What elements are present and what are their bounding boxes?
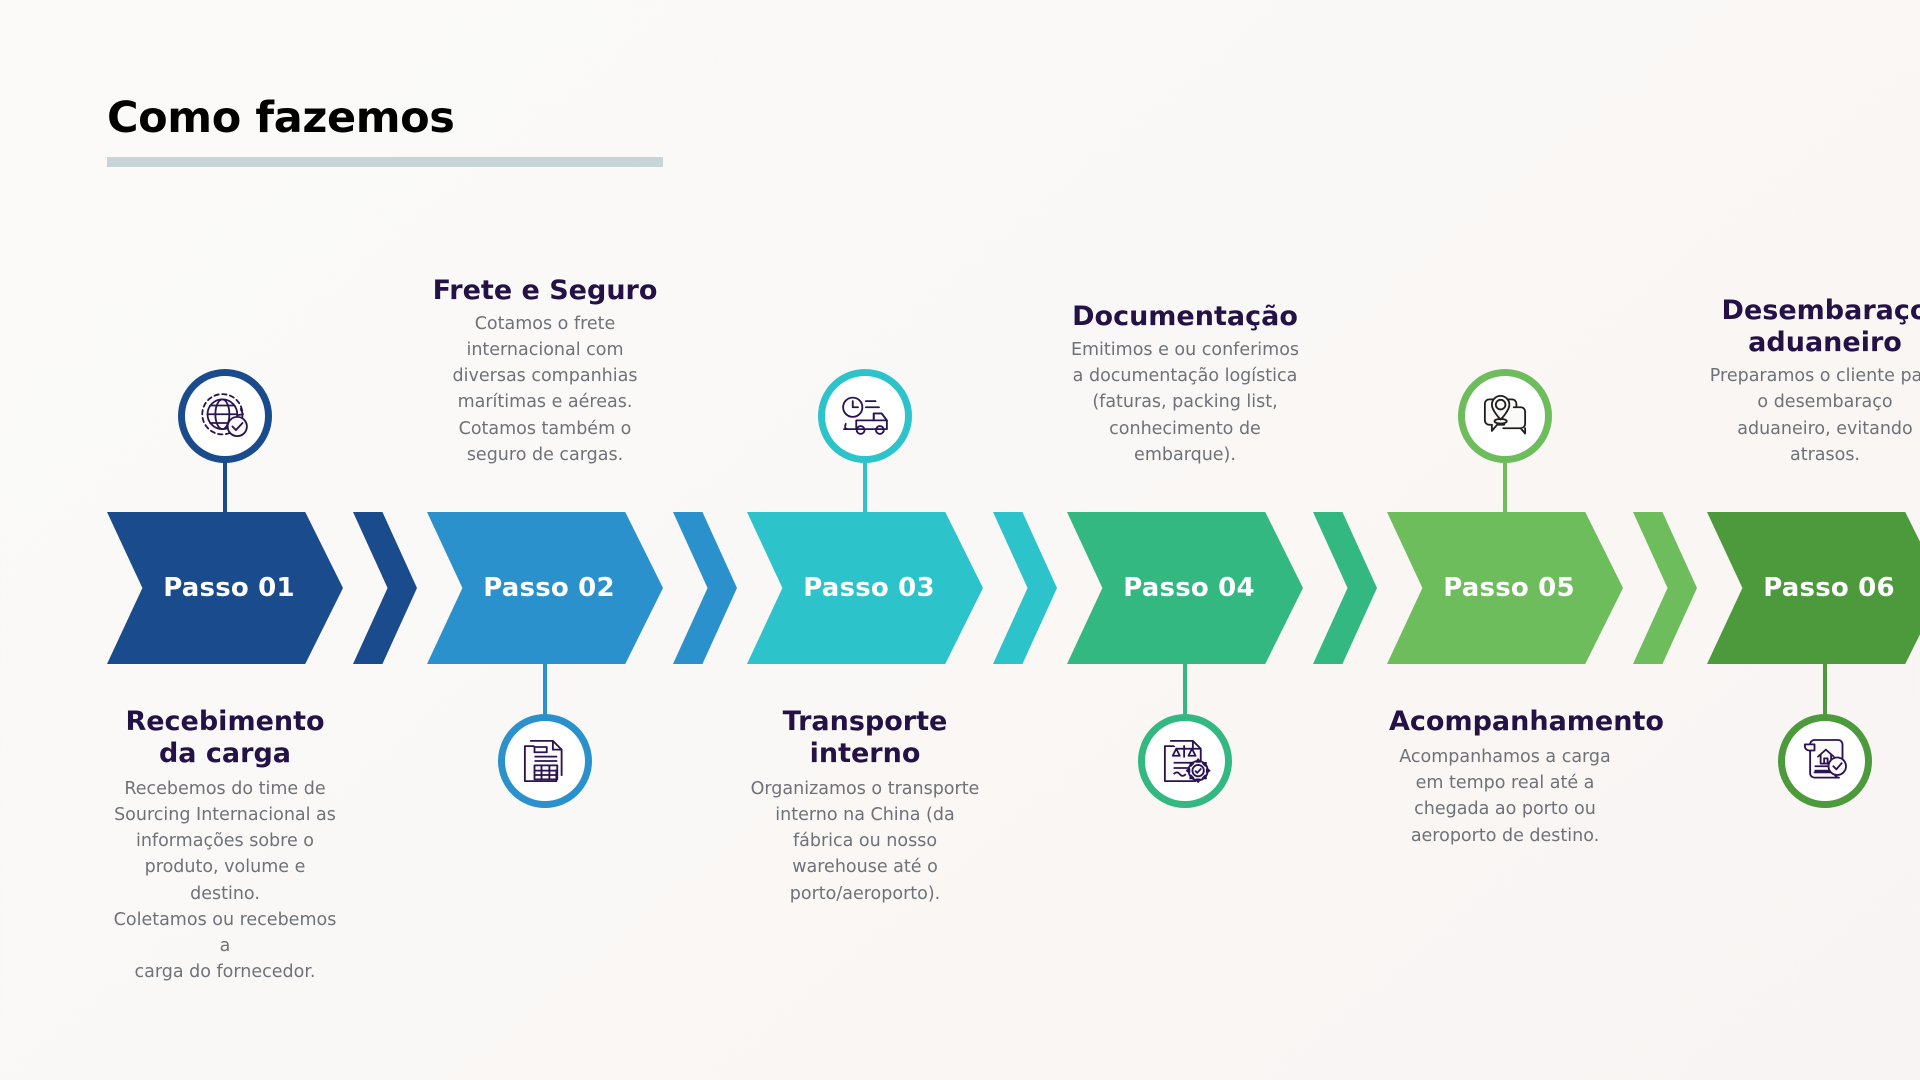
icon-badge-step-4[interactable] bbox=[1138, 714, 1232, 808]
chevron-step-6[interactable]: Passo 06 bbox=[1707, 512, 1920, 664]
step-title-2: Frete e Seguro bbox=[429, 275, 661, 307]
location-chat-icon bbox=[1477, 388, 1533, 444]
icon-badge-step-3[interactable] bbox=[818, 369, 912, 463]
step-label-4: Passo 04 bbox=[1123, 573, 1255, 603]
chevron-arrow-4 bbox=[1313, 512, 1377, 664]
step-title-3: Transporte interno bbox=[749, 706, 981, 770]
icon-badge-step-5[interactable] bbox=[1458, 369, 1552, 463]
step-description-1: Recebemos do time de Sourcing Internacio… bbox=[109, 776, 341, 986]
legal-documents-gear-icon bbox=[1157, 733, 1213, 789]
step-label-2: Passo 02 bbox=[483, 573, 615, 603]
step-title-5: Acompanhamento bbox=[1389, 706, 1621, 738]
icon-badge-step-1[interactable] bbox=[178, 369, 272, 463]
certificate-house-check-icon bbox=[1797, 733, 1853, 789]
chevron-band: Passo 01Passo 02Passo 03Passo 04Passo 05… bbox=[0, 512, 1920, 664]
step-description-6: Preparamos o cliente para o desembaraço … bbox=[1709, 363, 1920, 468]
process-flow-diagram: Passo 01Passo 02Passo 03Passo 04Passo 05… bbox=[0, 0, 1920, 1080]
step-description-3: Organizamos o transporte interno na Chin… bbox=[749, 776, 981, 907]
chevron-step-2[interactable]: Passo 02 bbox=[427, 512, 663, 664]
chevron-arrow-5 bbox=[1633, 512, 1697, 664]
step-text-block-6: Desembaraço aduaneiroPreparamos o client… bbox=[1709, 295, 1920, 468]
chevron-step-1[interactable]: Passo 01 bbox=[107, 512, 343, 664]
step-title-4: Documentação bbox=[1069, 301, 1301, 333]
step-description-4: Emitimos e ou conferimos a documentação … bbox=[1069, 337, 1301, 468]
invoice-documents-icon bbox=[517, 733, 573, 789]
step-text-block-1: Recebimento da cargaRecebemos do time de… bbox=[109, 706, 341, 986]
step-description-2: Cotamos o frete internacional com divers… bbox=[429, 311, 661, 469]
chevron-step-4[interactable]: Passo 04 bbox=[1067, 512, 1303, 664]
chevron-arrow-2 bbox=[673, 512, 737, 664]
chevron-step-3[interactable]: Passo 03 bbox=[747, 512, 983, 664]
icon-badge-step-6[interactable] bbox=[1778, 714, 1872, 808]
step-title-6: Desembaraço aduaneiro bbox=[1709, 295, 1920, 359]
chevron-step-5[interactable]: Passo 05 bbox=[1387, 512, 1623, 664]
step-description-5: Acompanhamos a carga em tempo real até a… bbox=[1389, 744, 1621, 849]
step-text-block-2: Frete e SeguroCotamos o frete internacio… bbox=[429, 275, 661, 468]
step-label-1: Passo 01 bbox=[163, 573, 295, 603]
chevron-arrow-3 bbox=[993, 512, 1057, 664]
step-title-1: Recebimento da carga bbox=[109, 706, 341, 770]
step-label-6: Passo 06 bbox=[1763, 573, 1895, 603]
step-text-block-4: DocumentaçãoEmitimos e ou conferimos a d… bbox=[1069, 301, 1301, 468]
step-label-3: Passo 03 bbox=[803, 573, 935, 603]
globe-check-icon bbox=[197, 388, 253, 444]
truck-clock-icon bbox=[837, 388, 893, 444]
step-text-block-3: Transporte internoOrganizamos o transpor… bbox=[749, 706, 981, 907]
chevron-arrow-1 bbox=[353, 512, 417, 664]
icon-badge-step-2[interactable] bbox=[498, 714, 592, 808]
step-label-5: Passo 05 bbox=[1443, 573, 1575, 603]
step-text-block-5: AcompanhamentoAcompanhamos a carga em te… bbox=[1389, 706, 1621, 849]
